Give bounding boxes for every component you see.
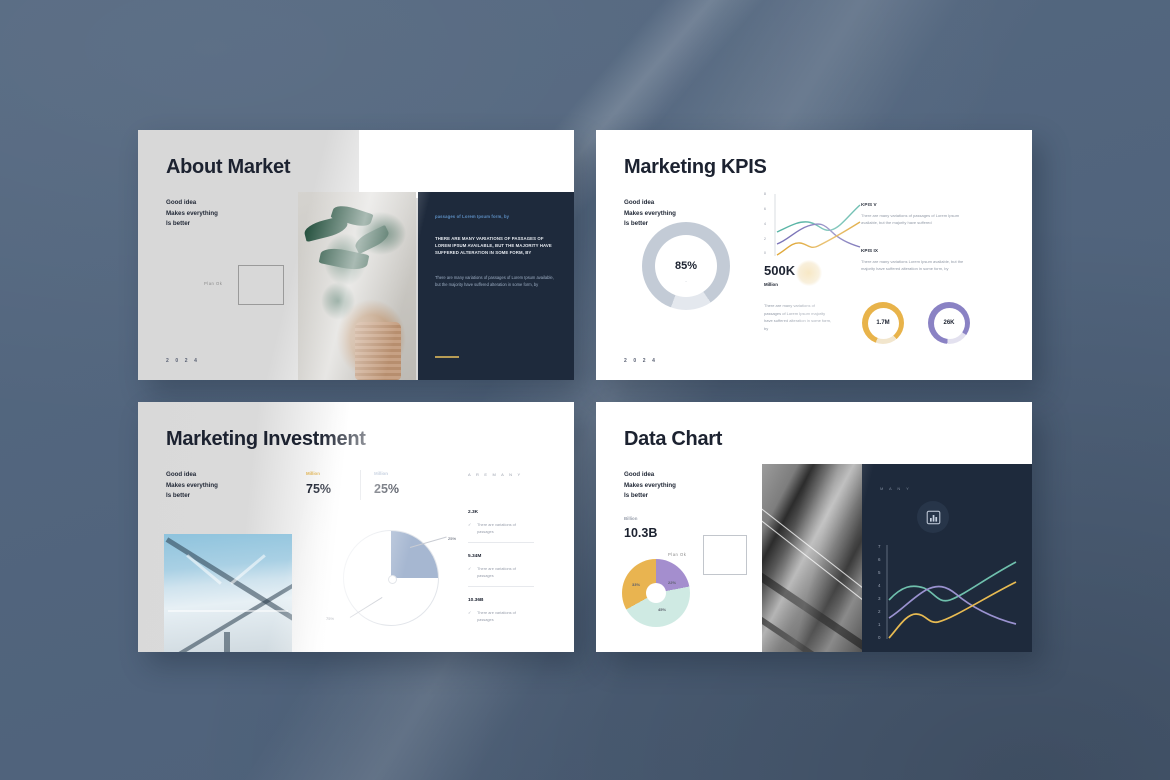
kpis-line-chart-svg [764,192,866,260]
list-item-number: 5.34M [468,554,481,559]
tagline-text: Good idea Makes everything Is better [166,470,218,502]
kpi-body-2: There are many variations Lorem Ipsum av… [861,258,971,273]
plan-frame [703,535,747,575]
tagline-text: Good idea Makes everything Is better [166,198,218,230]
plant-pot [355,322,401,380]
photo-figure [224,632,230,652]
tagline-text: Good idea Makes everything Is better [624,470,676,502]
svg-text:3: 3 [878,596,881,601]
list-item-number: 2.3K [468,510,478,515]
slide-marketing-investment[interactable]: Million 75% Million 25% 25% 75% A R E M … [138,402,574,652]
donut-chart-85: 85% - [642,222,730,310]
slide-grid: Plan Ok passages of Lorem Ipsum form, by… [138,130,1032,652]
list-item-number: 10.36B [468,598,483,603]
photo-highlight [168,610,288,612]
slide4-dark-panel: M A N Y 7 6 5 4 3 2 1 0 [862,464,1032,652]
ring-value: 26K [943,320,954,326]
list-header: A R E M A N Y [468,472,522,477]
gold-rule [435,356,459,358]
svg-text:2: 2 [878,609,881,614]
dark-line-chart-svg: 7 6 5 4 3 2 1 0 [876,542,1022,646]
building-photo [762,464,862,652]
check-icon: ✓ [468,566,472,571]
photo-highlight [230,554,266,585]
dark-panel-link[interactable]: passages of Lorem Ipsum form, by [435,214,509,219]
stat-unit: Million [764,282,778,287]
stat-body: There are many variations of passages of… [764,302,832,332]
plant-photo [298,192,416,380]
check-icon: ✓ [468,522,472,527]
leaf-shape [353,225,392,254]
stat-value-1: 75% [306,482,331,496]
plan-label: Plan Ok [204,281,222,286]
dark-panel-headline: THERE ARE MANY VARIATIONS OF PASSAGES OF… [435,236,555,257]
ring-value: 1.7M [876,320,889,326]
photo-edge [166,537,292,631]
stat-unit: Billion [624,516,637,521]
page-title: About Market [166,156,290,179]
svg-text:7: 7 [878,544,881,549]
svg-text:0: 0 [878,635,881,640]
stat-value-2: 25% [374,482,399,496]
gold-blob [796,260,822,286]
list-item-text: There are variations of passages [477,522,533,536]
svg-text:6: 6 [878,557,881,562]
bar-chart-icon-svg [926,510,941,525]
data-donut-chart [622,559,690,627]
donut-slice-label-45: 45% [658,607,666,612]
dark-panel-body: There are many variations of passages of… [435,274,560,289]
kpi-body-1: There are many variations of passages of… [861,212,969,227]
kpi-heading-1: KPIS V [861,202,877,207]
list-item-text: There are variations of passages [477,566,533,580]
stat-value: 500K [764,263,795,278]
list-divider [468,542,534,543]
architecture-photo [164,534,292,652]
pie-label-75: 75% [326,616,334,621]
svg-text:1: 1 [878,622,881,627]
page-title: Marketing Investment [166,428,366,451]
svg-text:5: 5 [878,570,881,575]
page-title: Marketing KPIS [624,156,767,179]
donut-value: 85% [675,260,697,272]
ring-gauge-purple: 26K [928,302,970,344]
list-divider [468,586,534,587]
plan-frame [238,265,284,305]
list-item-text: There are variations of passages [477,610,533,624]
slide-marketing-kpis[interactable]: Marketing KPIS Good idea Makes everythin… [596,130,1032,380]
ring-gauge-gold: 1.7M [862,302,904,344]
year-label: 2 0 2 4 [166,358,200,364]
slide1-white-corner [359,130,574,198]
check-icon: ✓ [468,610,472,615]
slide-about-market[interactable]: Plan Ok passages of Lorem Ipsum form, by… [138,130,574,380]
slide1-dark-panel: passages of Lorem Ipsum form, by THERE A… [418,192,574,380]
pie-label-25: 25% [448,536,456,541]
stat-divider [360,470,361,500]
page-title: Data Chart [624,428,722,451]
donut-slice-label-22: 22% [668,580,676,585]
stat-unit-1: Million [306,471,320,476]
svg-text:4: 4 [878,583,881,588]
stat-value: 10.3B [624,526,657,540]
photo-highlight [762,516,862,609]
kpi-heading-2: KPIS IX [861,248,878,253]
bar-chart-icon [917,501,949,533]
dark-panel-label: M A N Y [880,486,911,491]
slide-data-chart[interactable]: Plan Ok M A N Y 7 6 5 4 3 2 1 0 [596,402,1032,652]
year-label: 2 0 2 4 [624,358,658,364]
kpis-line-chart: 8 6 4 2 0 [764,192,866,260]
plan-label: Plan Ok [668,552,686,557]
donut-subvalue: - [685,278,686,283]
stat-unit-2: Million [374,471,388,476]
donut-slice-label-33: 33% [632,582,640,587]
